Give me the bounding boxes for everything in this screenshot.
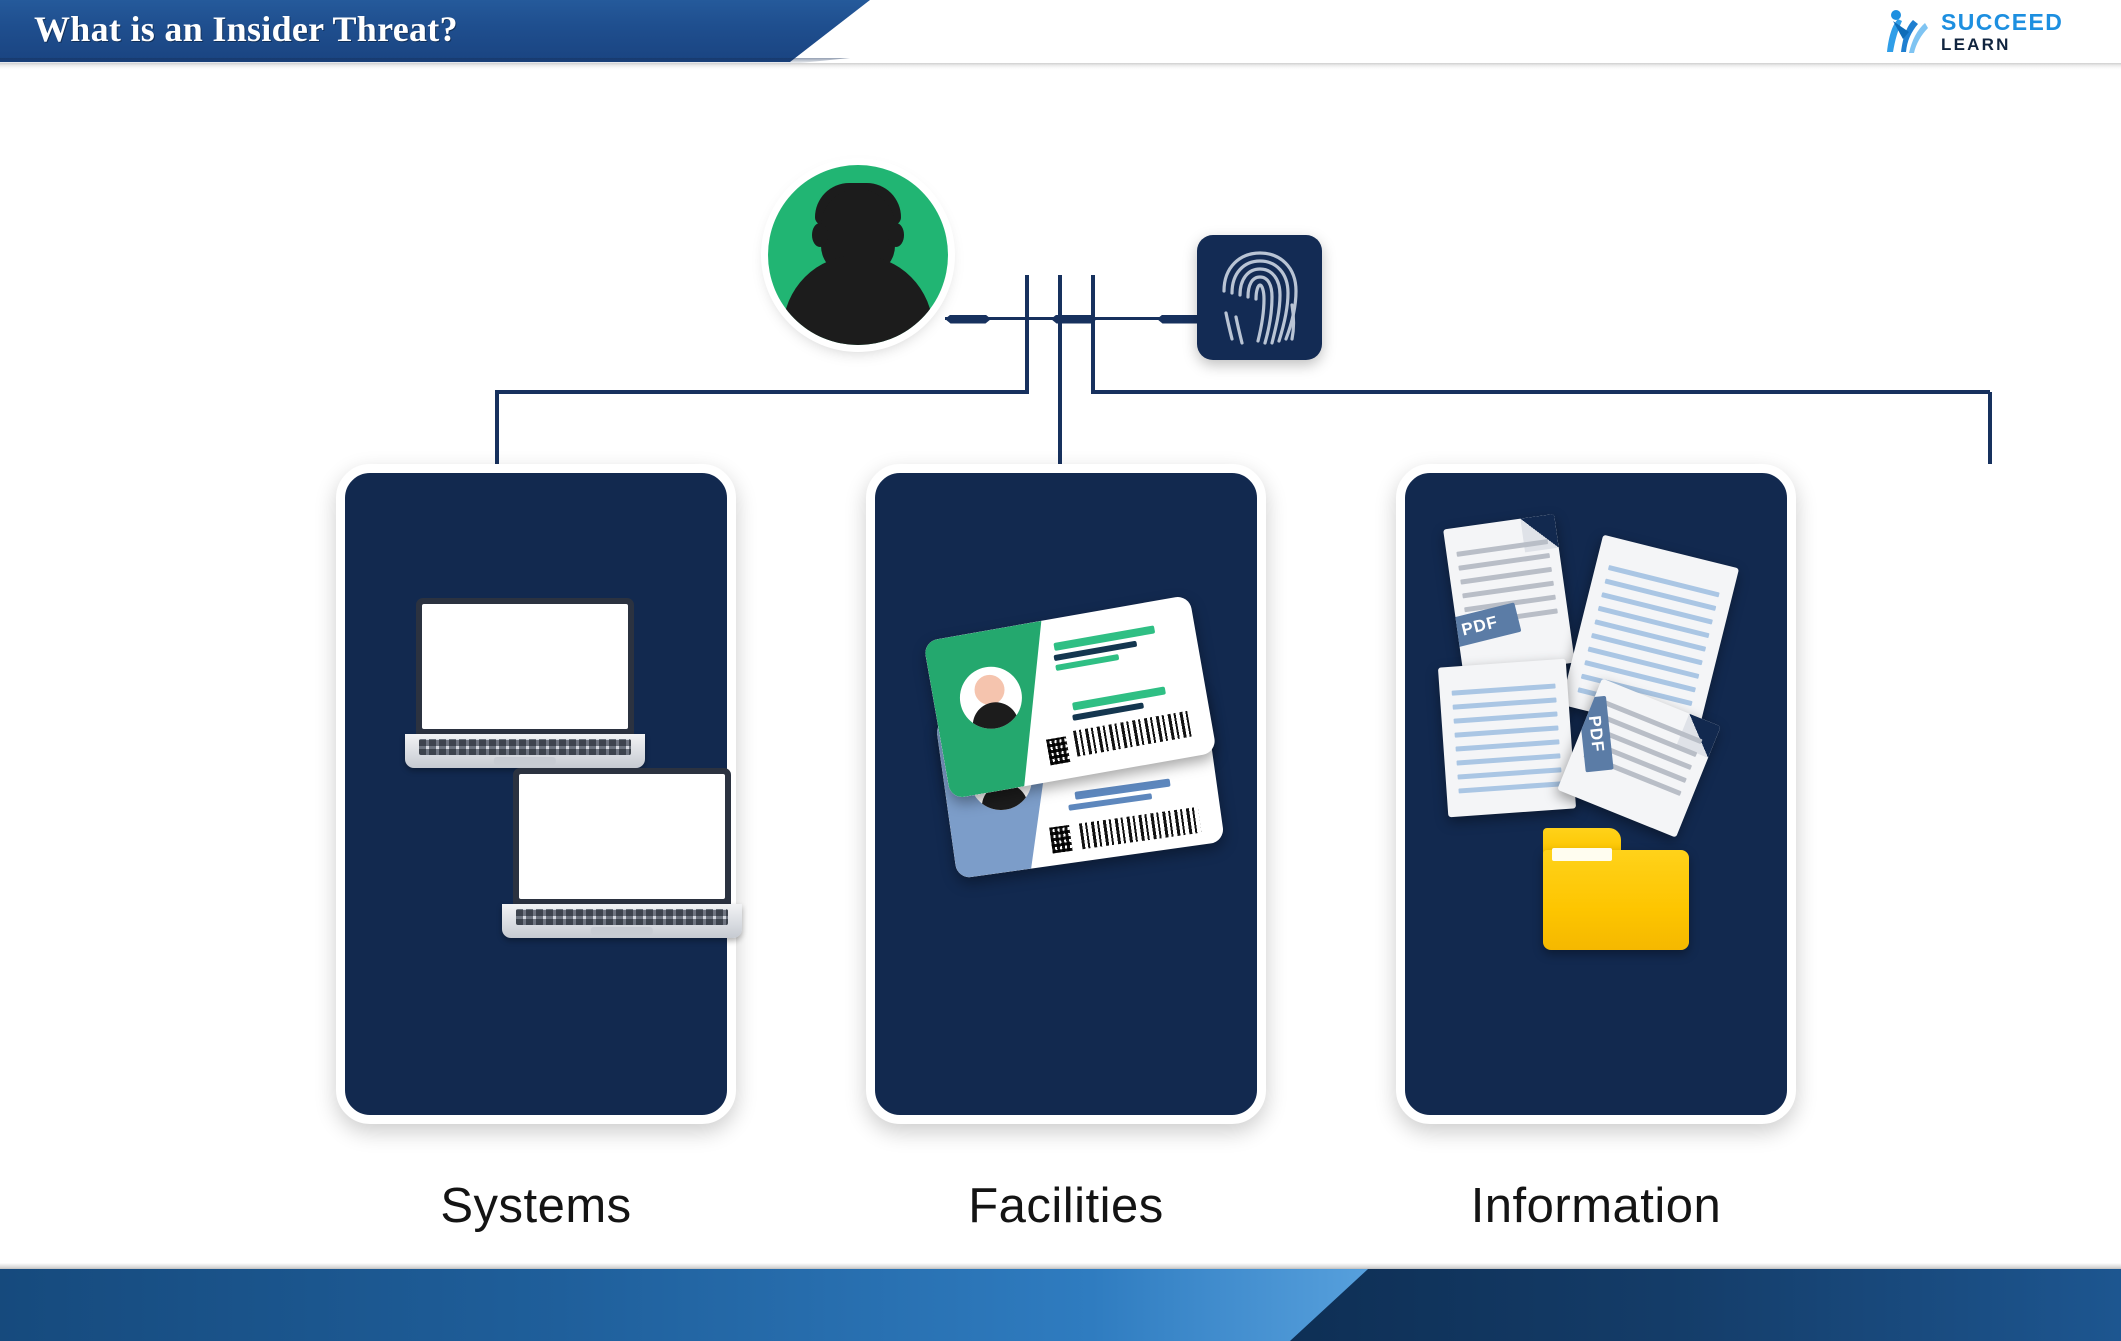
card-label-information: Information <box>1396 1178 1796 1234</box>
folder-icon <box>1543 828 1689 950</box>
logo-wordmark: SUCCEED LEARN <box>1941 11 2063 53</box>
logo-secondary-text: LEARN <box>1941 36 2063 53</box>
card-label-systems: Systems <box>336 1178 736 1234</box>
laptop-display <box>422 604 628 729</box>
id-badge-barcode <box>1073 711 1192 757</box>
category-card-information[interactable]: PDF PDF <box>1396 464 1796 1124</box>
id-badge-qr <box>1049 825 1072 854</box>
laptop-trackpad <box>494 757 556 764</box>
folder-body <box>1543 850 1689 950</box>
laptop-keyboard <box>516 909 727 925</box>
laptop-base <box>405 734 645 768</box>
laptop-screen <box>416 598 634 734</box>
laptop-icon-upper <box>416 598 645 768</box>
laptop-screen <box>513 768 731 904</box>
laptop-base <box>502 904 742 938</box>
brand-logo: SUCCEED LEARN <box>1879 4 2095 60</box>
folder-label-strip <box>1552 848 1612 861</box>
page-header: What is an Insider Threat? <box>0 0 2121 64</box>
logo-primary-text: SUCCEED <box>1941 11 2063 34</box>
id-badge-cards-icon <box>931 593 1221 903</box>
documents-icon: PDF PDF <box>1435 513 1765 803</box>
laptop-keyboard <box>419 739 630 755</box>
card-label-facilities: Facilities <box>866 1178 1266 1234</box>
laptop-trackpad <box>591 927 653 934</box>
document-page <box>1438 659 1576 818</box>
footer-dark-band <box>1290 1269 2121 1341</box>
category-card-facilities[interactable] <box>866 464 1266 1124</box>
document-text-lines <box>1451 683 1564 804</box>
document-page: PDF <box>1443 514 1575 678</box>
diagram-stage: PDF PDF <box>0 70 2121 1250</box>
id-badge-qr <box>1046 736 1070 765</box>
page-footer <box>0 1263 2121 1341</box>
page-title: What is an Insider Threat? <box>34 8 458 50</box>
id-badge-barcode <box>1079 807 1201 849</box>
header-divider <box>0 63 2121 70</box>
category-card-systems[interactable] <box>336 464 736 1124</box>
document-text-lines <box>1456 539 1563 665</box>
laptop-display <box>519 774 725 899</box>
footer-light-band <box>0 1269 1400 1341</box>
laptop-icon-lower <box>513 768 742 938</box>
category-cards: PDF PDF <box>0 70 2121 1250</box>
person-book-logo-mark-icon <box>1879 6 1931 58</box>
